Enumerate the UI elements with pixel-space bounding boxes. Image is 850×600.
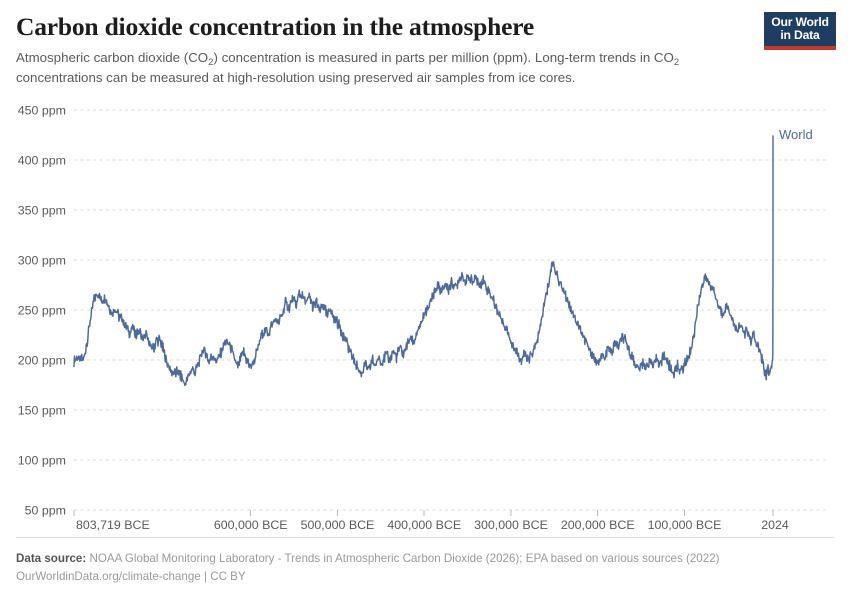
x-axis-tick-label: 400,000 BCE [387, 518, 461, 532]
series-line-world[interactable] [74, 136, 773, 385]
y-axis-tick-label: 200 ppm [18, 354, 66, 368]
data-source-label: Data source: [16, 552, 86, 565]
y-axis-tick-label: 150 ppm [18, 404, 66, 418]
footer-source-line: Data source: NOAA Global Monitoring Labo… [16, 550, 826, 568]
footer-link-line: OurWorldinData.org/climate-change | CC B… [16, 568, 826, 586]
x-axis-tick-label: 300,000 BCE [474, 518, 548, 532]
y-axis-tick-label: 300 ppm [18, 254, 66, 268]
owid-site-link[interactable]: OurWorldinData.org/climate-change [16, 570, 201, 583]
chart-footer: Data source: NOAA Global Monitoring Labo… [16, 550, 826, 586]
gridlines [74, 110, 829, 510]
x-axis-tick-label: 200,000 BCE [561, 518, 635, 532]
license-link[interactable]: CC BY [210, 570, 245, 583]
y-axis-tick-label: 400 ppm [18, 154, 66, 168]
series-label-world: World [779, 127, 813, 142]
x-axis-tick-label: 803,719 BCE [76, 518, 150, 532]
x-axis [74, 510, 773, 516]
footer-divider [16, 537, 834, 538]
chart-plot-area[interactable]: 50 ppm100 ppm150 ppm200 ppm250 ppm300 pp… [0, 0, 850, 540]
y-axis-tick-label: 450 ppm [18, 104, 66, 118]
x-axis-tick-label: 2024 [761, 518, 789, 532]
y-axis-labels: 50 ppm100 ppm150 ppm200 ppm250 ppm300 pp… [18, 104, 66, 518]
license-separator: | [201, 570, 210, 583]
x-axis-tick-label: 100,000 BCE [648, 518, 722, 532]
x-axis-tick-label: 600,000 BCE [214, 518, 288, 532]
y-axis-tick-label: 250 ppm [18, 304, 66, 318]
data-source-text: NOAA Global Monitoring Laboratory - Tren… [89, 552, 719, 565]
y-axis-tick-label: 50 ppm [25, 504, 66, 518]
y-axis-tick-label: 350 ppm [18, 204, 66, 218]
y-axis-tick-label: 100 ppm [18, 454, 66, 468]
x-axis-labels: 803,719 BCE600,000 BCE500,000 BCE400,000… [76, 518, 789, 532]
line-chart-svg[interactable]: 50 ppm100 ppm150 ppm200 ppm250 ppm300 pp… [0, 0, 850, 540]
x-axis-tick-label: 500,000 BCE [301, 518, 375, 532]
